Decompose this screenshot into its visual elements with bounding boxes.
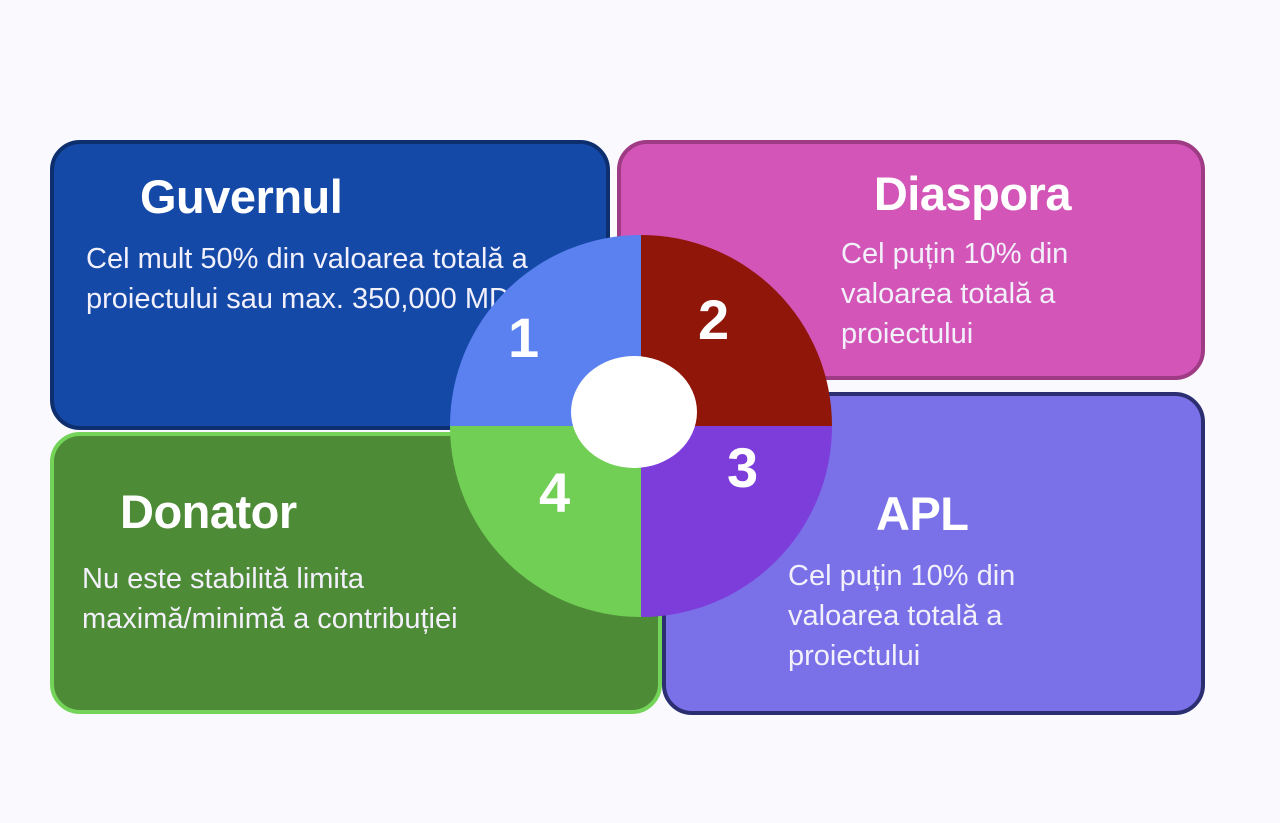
card-guvernul[interactable]: Guvernul Cel mult 50% din valoarea total… (50, 140, 610, 430)
card-diaspora-body: Cel puțin 10% din valoarea totală a proi… (841, 234, 1141, 354)
infographic-canvas: Guvernul Cel mult 50% din valoarea total… (0, 0, 1280, 823)
card-donator-body: Nu este stabilită limita maximă/minimă a… (82, 559, 502, 639)
card-apl-title: APL (876, 486, 969, 541)
card-apl-body: Cel puțin 10% din valoarea totală a proi… (788, 556, 1088, 676)
card-diaspora-title: Diaspora (874, 166, 1071, 221)
card-donator-title: Donator (120, 484, 297, 539)
quadrant-number-3: 3 (727, 440, 758, 496)
card-guvernul-content: Guvernul Cel mult 50% din valoarea total… (54, 144, 606, 426)
quadrant-number-4: 4 (539, 465, 570, 521)
card-guvernul-title: Guvernul (140, 169, 342, 224)
card-donator[interactable]: Donator Nu este stabilită limita maximă/… (50, 432, 662, 714)
quadrant-number-2: 2 (698, 292, 729, 348)
card-guvernul-body: Cel mult 50% din valoarea totală a proie… (86, 239, 556, 319)
quadrant-number-1: 1 (508, 310, 539, 366)
